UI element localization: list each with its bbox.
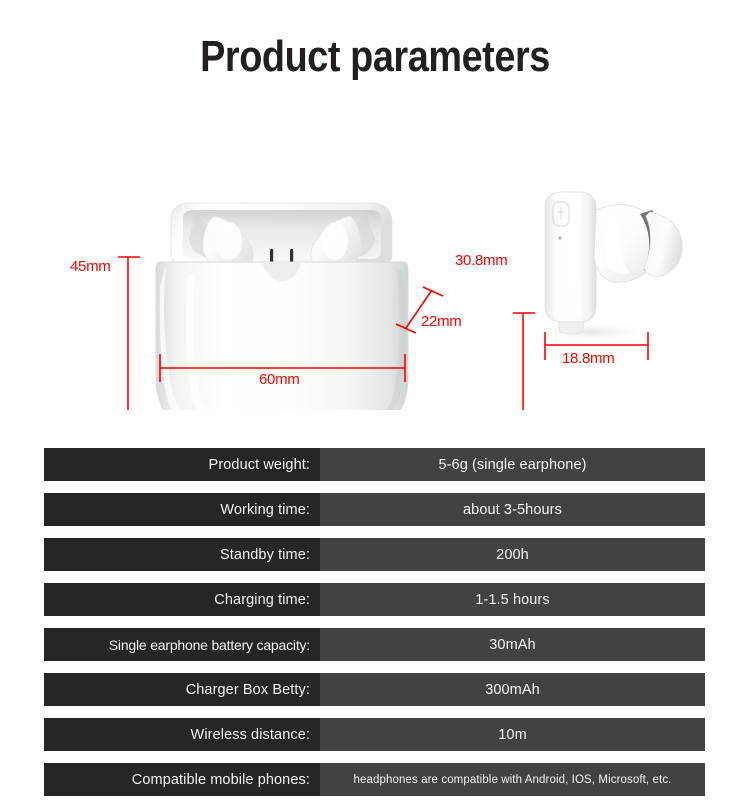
table-row: Charging time: 1-1.5 hours [44,583,705,616]
dimension-label-case-width: 60mm [259,371,299,388]
spec-label: Charger Box Betty: [44,673,320,706]
spec-value: 1-1.5 hours [320,583,705,616]
spec-value: 5-6g (single earphone) [320,448,705,481]
table-row: Charger Box Betty: 300mAh [44,673,705,706]
table-row: Single earphone battery capacity: 30mAh [44,628,705,661]
earbud-image [530,192,682,342]
spec-value: 300mAh [320,673,705,706]
spec-value: 30mAh [320,628,705,661]
product-illustration-area: 45mm 60mm 22mm 30.8mm 18.8mm [0,110,750,410]
spec-label: Standby time: [44,538,320,571]
spec-value: 10m [320,718,705,751]
spec-label: Single earphone battery capacity: [44,628,320,661]
dimension-earbud-height [513,313,535,410]
dimension-case-height [118,257,140,410]
table-row: Working time: about 3-5hours [44,493,705,526]
microphone-hole-icon [558,236,562,240]
product-diagram-svg [0,110,750,410]
spec-label: Charging time: [44,583,320,616]
dimension-label-earbud-width: 18.8mm [562,350,614,367]
spec-value: headphones are compatible with Android, … [320,763,705,796]
spec-label: Compatible mobile phones: [44,763,320,796]
table-row: Compatible mobile phones: headphones are… [44,763,705,796]
page-title: Product parameters [53,32,698,82]
table-row: Product weight: 5-6g (single earphone) [44,448,705,481]
spec-label: Wireless distance: [44,718,320,751]
spec-value: about 3-5hours [320,493,705,526]
spec-label: Working time: [44,493,320,526]
dimension-label-case-depth: 22mm [421,313,461,330]
specification-table: Product weight: 5-6g (single earphone) W… [44,448,705,808]
table-row: Standby time: 200h [44,538,705,571]
table-row: Wireless distance: 10m [44,718,705,751]
dimension-label-earbud-height: 30.8mm [455,252,507,269]
spec-label: Product weight: [44,448,320,481]
dimension-label-case-height: 45mm [70,258,110,275]
spec-value: 200h [320,538,705,571]
